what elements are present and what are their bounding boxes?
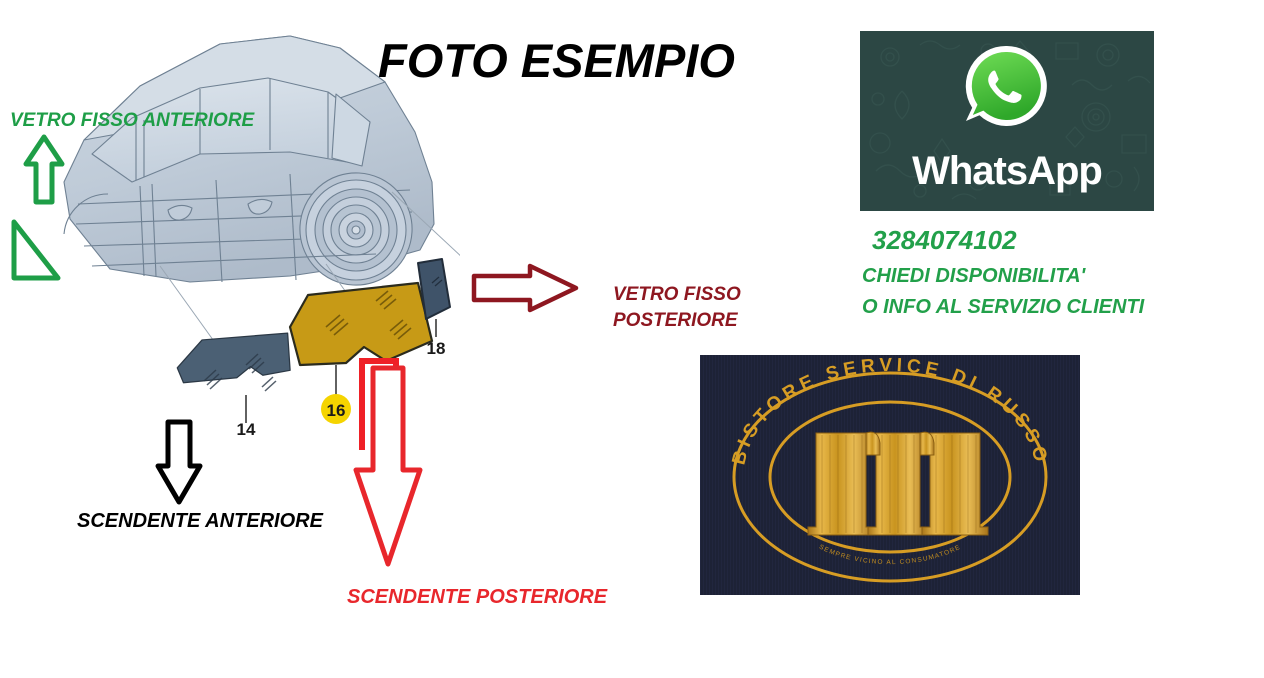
label-vetro-fisso-posteriore: VETRO FISSO POSTERIORE [613, 282, 741, 334]
cta-line-2: O INFO AL SERVIZIO CLIENTI [862, 296, 1144, 319]
label-line-1: VETRO FISSO [613, 282, 741, 308]
svg-text:16: 16 [327, 401, 346, 420]
whatsapp-logo-icon [960, 43, 1054, 137]
label-vetro-fisso-anteriore: VETRO FISSO ANTERIORE [10, 110, 254, 132]
whatsapp-banner: WhatsApp [860, 31, 1154, 211]
cta-line-1: CHIEDI DISPONIBILITA' [862, 265, 1085, 288]
label-scendente-anteriore: SCENDENTE ANTERIORE [77, 510, 323, 533]
shop-logo-image: MRICAMBISTORE SERVICE DI RUSSO MARCO [700, 355, 1080, 595]
poster-canvas: FOTO ESEMPIO [0, 0, 1264, 678]
label-scendente-posteriore: SCENDENTE POSTERIORE [347, 586, 607, 609]
whatsapp-wordmark: WhatsApp [860, 149, 1154, 194]
whatsapp-phone-number[interactable]: 3284074102 [872, 225, 1017, 256]
svg-text:18: 18 [427, 339, 446, 358]
right-arrow-darkred-icon [474, 266, 576, 310]
exploded-glass-parts: 14 16 17 18 [150, 255, 480, 435]
svg-text:14: 14 [237, 420, 256, 439]
svg-text:17: 17 [370, 401, 389, 420]
label-line-2: POSTERIORE [613, 308, 741, 334]
